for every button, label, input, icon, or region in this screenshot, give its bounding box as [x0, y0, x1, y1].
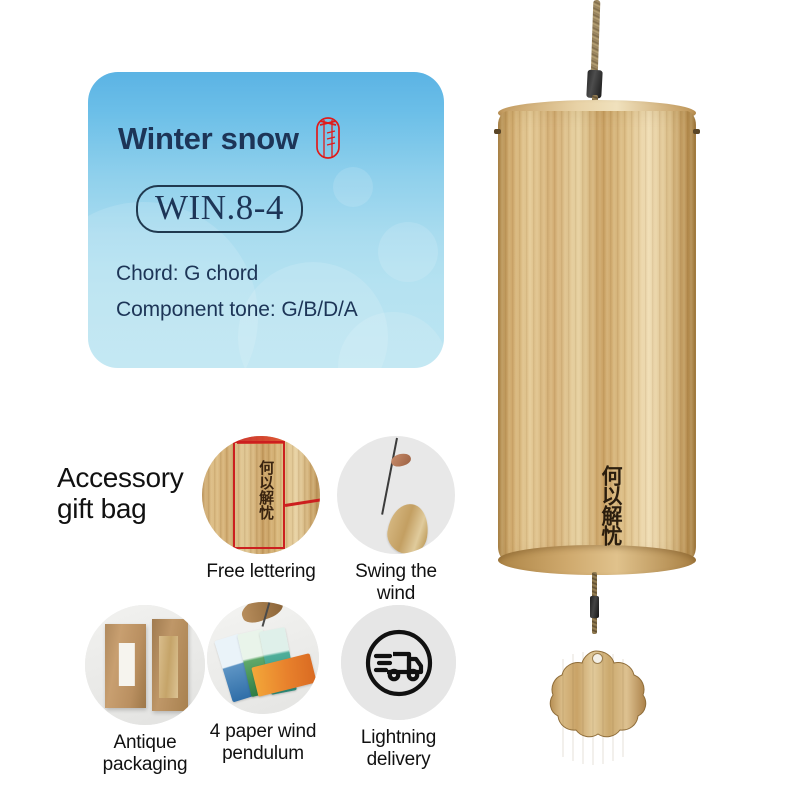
- accessory-item-antique-packaging: Antique packaging: [85, 605, 205, 776]
- product-info-card: Winter snow WIN.8-4 Chord: G chord Compo…: [88, 72, 444, 368]
- clasp-rope-tail: [592, 95, 598, 113]
- decorative-bubble: [378, 222, 438, 282]
- accessory-label: 4 paper wind pendulum: [207, 721, 319, 765]
- metal-clasp: [586, 70, 602, 99]
- swing-the-wind-photo: [337, 436, 455, 554]
- accessory-item-swing-the-wind: Swing the wind: [337, 436, 455, 605]
- cloud-shaped-bamboo-pendant: [535, 645, 653, 767]
- striker-cord: [381, 438, 398, 515]
- kraft-box-front: [105, 624, 146, 708]
- accessory-item-lightning-delivery: Lightning delivery: [341, 605, 456, 771]
- paper-pendulum-photo: [207, 602, 319, 714]
- wind-catcher-paddle: [384, 502, 431, 554]
- accessory-label: Antique packaging: [85, 732, 205, 776]
- delivery-truck-icon: [363, 627, 435, 699]
- bamboo-tube-in-box: [159, 636, 178, 698]
- pendant-clasp: [590, 596, 599, 618]
- tube-pin-left: [494, 129, 501, 134]
- decorative-bubble: [333, 167, 373, 207]
- page-title: Winter snow: [118, 123, 299, 154]
- chord-info: Chord: G chord: [116, 262, 258, 286]
- bamboo-tube: [498, 111, 696, 561]
- pendant-string-hole: [592, 653, 603, 664]
- accessory-label: Free lettering: [202, 561, 320, 583]
- bamboo-tube-top-rim: [498, 100, 696, 126]
- pendant-rope: [592, 572, 597, 634]
- accessory-item-paper-wind-pendulum: 4 paper wind pendulum: [207, 602, 319, 765]
- model-badge: WIN.8-4: [136, 185, 303, 233]
- wind-chime-tube-icon: [313, 116, 343, 160]
- accessory-label: Swing the wind: [337, 561, 455, 605]
- bamboo-tube-bottom-rim: [498, 545, 696, 575]
- tube-engraved-characters: 何以解忧: [566, 465, 622, 545]
- accessory-label: Lightning delivery: [341, 727, 456, 771]
- tube-pin-right: [693, 129, 700, 134]
- kraft-box-open: [152, 619, 188, 710]
- free-lettering-photo: 何以解忧: [202, 436, 320, 554]
- package-label: [118, 643, 134, 687]
- accessory-gift-bag-heading: Accessory gift bag: [57, 462, 183, 525]
- antique-packaging-photo: [85, 605, 205, 725]
- lightning-delivery-badge: [341, 605, 456, 720]
- accessory-item-free-lettering: 何以解忧 Free lettering: [202, 436, 320, 583]
- component-tone-info: Component tone: G/B/D/A: [116, 298, 358, 322]
- card-title-row: Winter snow: [118, 116, 343, 160]
- hanging-rope: [591, 0, 601, 78]
- engraved-characters: 何以解忧: [242, 460, 275, 520]
